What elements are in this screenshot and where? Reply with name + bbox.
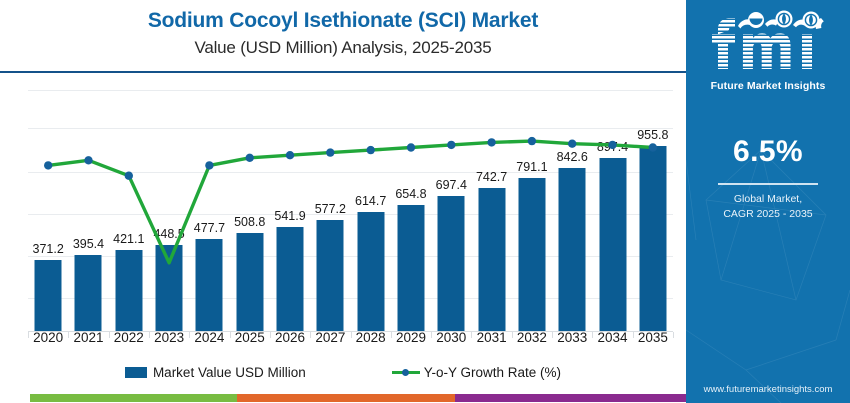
line-series [28,86,673,332]
growth-rate-marker[interactable] [528,137,536,145]
x-axis-label: 2023 [154,330,184,345]
plot-inner: 371.2395.4421.1448.5477.7508.8541.9577.2… [28,86,673,332]
x-axis-label: 2035 [638,330,668,345]
axis-tick [673,332,674,338]
fmi-logo-mark [703,8,833,78]
growth-rate-line [48,141,653,263]
growth-rate-marker[interactable] [326,148,334,156]
x-axis-label: 2030 [436,330,466,345]
x-axis-label: 2022 [114,330,144,345]
chart-main-panel: Sodium Cocoyl Isethionate (SCI) Market V… [0,0,686,403]
page-subtitle: Value (USD Million) Analysis, 2025-2035 [0,33,686,58]
growth-rate-marker[interactable] [487,138,495,146]
legend-label-market-value: Market Value USD Million [153,365,306,380]
x-axis-label: 2033 [557,330,587,345]
cagr-caption-line1: Global Market, [686,192,850,207]
x-axis-label: 2027 [315,330,345,345]
x-axis-label: 2021 [73,330,103,345]
bar-swatch-icon [125,367,147,378]
x-axis-label: 2025 [235,330,265,345]
legend-item-growth-rate[interactable]: Y-o-Y Growth Rate (%) [392,365,561,380]
purple-segment [455,394,686,402]
cagr-value: 6.5% [686,135,850,169]
bottom-color-strip [0,393,686,403]
growth-rate-marker[interactable] [568,140,576,148]
growth-rate-marker[interactable] [205,161,213,169]
growth-rate-marker[interactable] [367,146,375,154]
x-axis-label: 2024 [194,330,224,345]
growth-rate-marker[interactable] [246,154,254,162]
growth-rate-marker[interactable] [84,156,92,164]
x-axis-label: 2031 [477,330,507,345]
orange-segment [237,394,455,402]
header-divider [0,71,686,73]
fmi-logo-tagline: Future Market Insights [686,80,850,92]
growth-rate-marker[interactable] [608,141,616,149]
fmi-logo: Future Market Insights [686,8,850,92]
website-url[interactable]: www.futuremarketinsights.com [686,384,850,395]
chart-infographic: Sodium Cocoyl Isethionate (SCI) Market V… [0,0,850,403]
growth-rate-marker[interactable] [407,143,415,151]
chart-header: Sodium Cocoyl Isethionate (SCI) Market V… [0,0,686,72]
growth-rate-marker[interactable] [286,151,294,159]
legend-item-market-value[interactable]: Market Value USD Million [125,365,306,380]
cagr-caption: Global Market, CAGR 2025 - 2035 [686,192,850,222]
x-axis-label: 2028 [356,330,386,345]
x-axis-label: 2034 [598,330,628,345]
legend-label-growth-rate: Y-o-Y Growth Rate (%) [424,365,561,380]
plot-area: 371.2395.4421.1448.5477.7508.8541.9577.2… [0,78,686,353]
cagr-caption-line2: CAGR 2025 - 2035 [686,207,850,222]
x-axis-label: 2029 [396,330,426,345]
x-axis-label: 2020 [33,330,63,345]
x-axis-label: 2026 [275,330,305,345]
growth-rate-marker[interactable] [44,161,52,169]
branding-sidebar: Future Market Insights 6.5% Global Marke… [686,0,850,403]
line-swatch-icon [392,367,420,378]
growth-rate-marker[interactable] [447,141,455,149]
page-title: Sodium Cocoyl Isethionate (SCI) Market [0,0,686,33]
growth-rate-marker[interactable] [649,143,657,151]
cagr-divider [718,183,818,185]
chart-legend: Market Value USD Million Y-o-Y Growth Ra… [0,360,686,384]
x-axis-labels: 2020202120222023202420252026202720282029… [28,330,673,350]
green-segment [30,394,237,402]
x-axis-label: 2032 [517,330,547,345]
growth-rate-marker[interactable] [125,172,133,180]
